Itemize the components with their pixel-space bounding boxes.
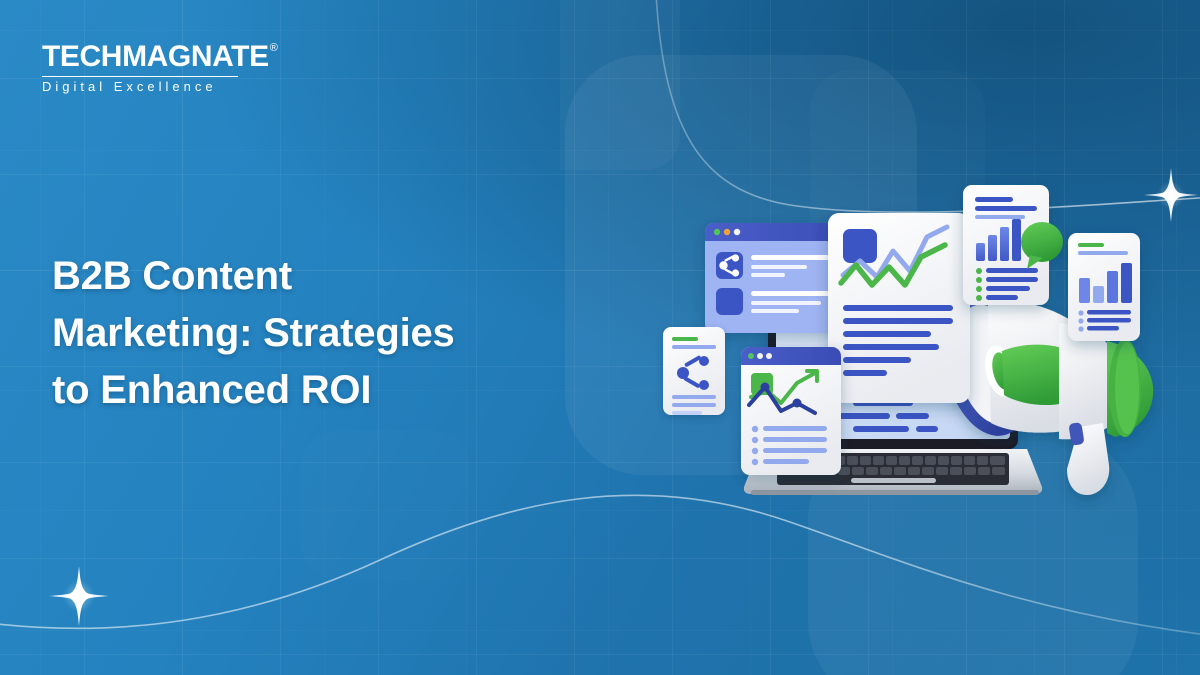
analytics-document-card [828,213,970,403]
logo-tagline: Digital Excellence [42,80,276,93]
share-icon-card [663,327,725,415]
logo-wordmark-row: TECHMAGNATE® [42,42,276,72]
logo-wordmark: TECHMAGNATE [42,42,269,72]
banner-root: TECHMAGNATE® Digital Excellence B2B Cont… [0,0,1200,675]
sparkle-bottom-left-icon [48,565,110,627]
logo-registered-icon: ® [270,43,278,54]
headline-line-2: Marketing: Strategies [52,311,455,355]
headline-line-1: B2B Content [52,254,292,298]
page-title: B2B Content Marketing: Strategies to Enh… [52,248,672,418]
headline-line-3: to Enhanced ROI [52,368,371,412]
logo-divider [42,76,238,77]
hero-illustration [655,165,1200,565]
bar-chart-side-card [1068,233,1140,341]
browser-window-chart-card [741,347,841,475]
brand-logo[interactable]: TECHMAGNATE® Digital Excellence [42,42,276,93]
bar-chart-document-card [963,185,1063,305]
